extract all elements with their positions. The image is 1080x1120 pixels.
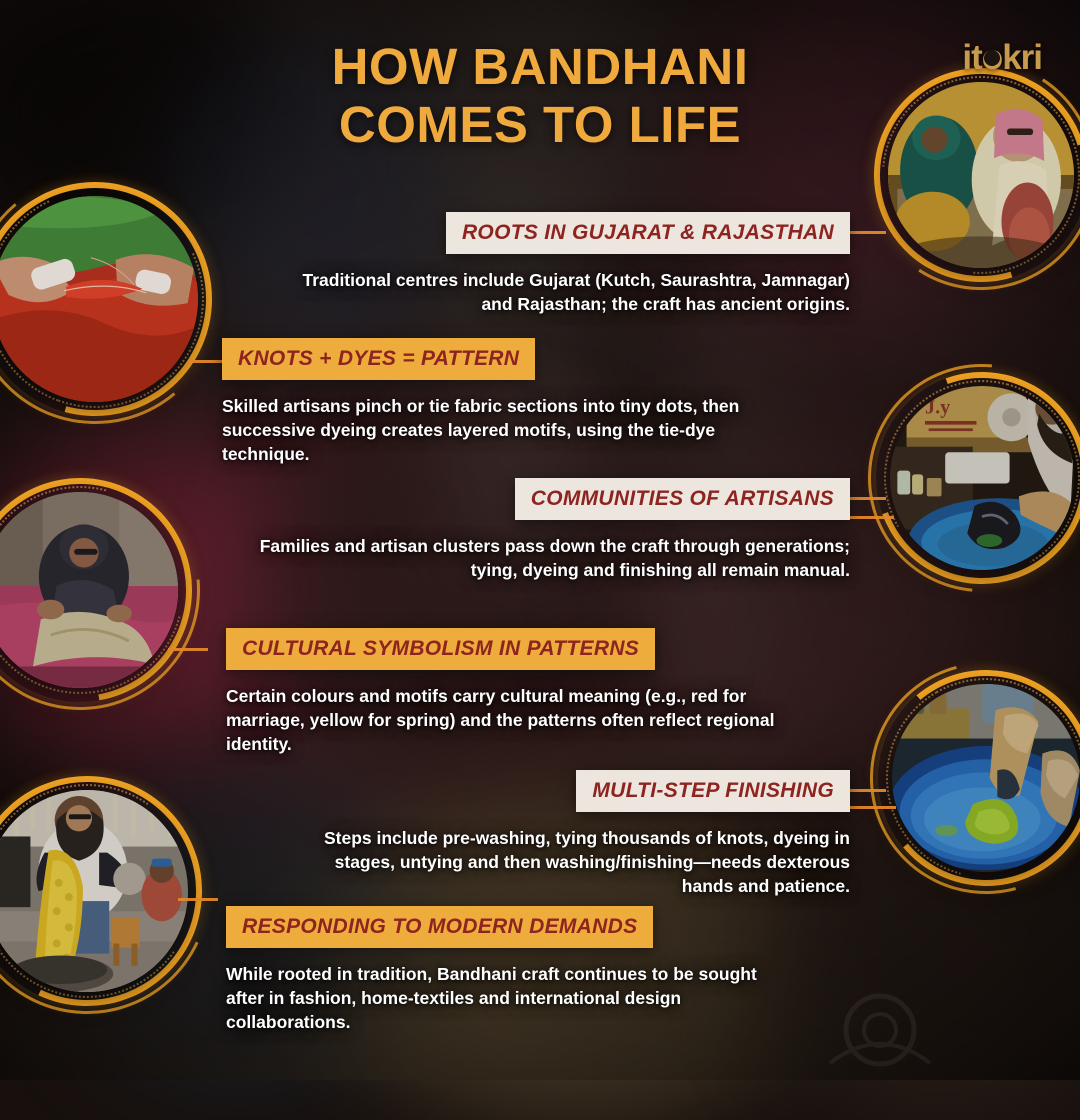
photo-connector (178, 898, 218, 901)
section-body: Skilled artisans pinch or tie fabric sec… (222, 394, 782, 466)
section-body: Families and artisan clusters pass down … (238, 534, 850, 582)
section-responding-to-modern-demands: RESPONDING TO MODERN DEMANDS While roote… (226, 906, 786, 1034)
section-roots-in-gujarat-rajasthan: ROOTS IN GUJARAT & RAJASTHAN Traditional… (250, 212, 850, 316)
photo-disc (0, 196, 198, 402)
photo-disc: J.y (890, 386, 1074, 570)
section-heading: ROOTS IN GUJARAT & RAJASTHAN (446, 212, 850, 254)
photo-dyer-yellow-fabric (0, 790, 188, 992)
photo-connector (846, 806, 896, 809)
page-title-line-1: HOW BANDHANI (0, 38, 1080, 96)
section-knots-dyes-pattern: KNOTS + DYES = PATTERN Skilled artisans … (222, 338, 782, 466)
section-heading: RESPONDING TO MODERN DEMANDS (226, 906, 653, 948)
page-title-line-2: COMES TO LIFE (0, 96, 1080, 154)
brand-logo[interactable]: itokri (962, 40, 1042, 75)
photo-woman-seated-tying (0, 492, 178, 688)
photo-indigo-dye-bath (892, 684, 1080, 872)
section-body: Certain colours and motifs carry cultura… (226, 684, 786, 756)
photo-disc (0, 790, 188, 992)
brand-logo-part-2: kri (1002, 38, 1042, 77)
photo-artisan-dye-vat: J.y (890, 386, 1074, 570)
section-body: Steps include pre-washing, tying thousan… (300, 826, 850, 898)
decorative-motif-icon (820, 985, 940, 1075)
section-heading: CULTURAL SYMBOLISM IN PATTERNS (226, 628, 655, 670)
section-cultural-symbolism-in-patterns: CULTURAL SYMBOLISM IN PATTERNS Certain c… (226, 628, 786, 756)
section-heading: KNOTS + DYES = PATTERN (222, 338, 535, 380)
page-title: HOW BANDHANI COMES TO LIFE (0, 38, 1080, 154)
section-heading: MULTI-STEP FINISHING (576, 770, 850, 812)
section-multi-step-finishing: MULTI-STEP FINISHING Steps include pre-w… (300, 770, 850, 898)
photo-disc (0, 492, 178, 688)
section-body: Traditional centres include Gujarat (Kut… (250, 268, 850, 316)
photo-hands-tying-red (0, 196, 198, 402)
brand-logo-part-1: it (962, 38, 981, 77)
section-heading: COMMUNITIES OF ARTISANS (515, 478, 850, 520)
section-communities-of-artisans: COMMUNITIES OF ARTISANS Families and art… (238, 478, 850, 582)
section-body: While rooted in tradition, Bandhani craf… (226, 962, 786, 1034)
brand-logo-o-glyph: o (982, 40, 1002, 75)
photo-connector (168, 648, 208, 651)
brand-logo-dot-icon (984, 50, 1000, 66)
photo-disc (892, 684, 1080, 872)
